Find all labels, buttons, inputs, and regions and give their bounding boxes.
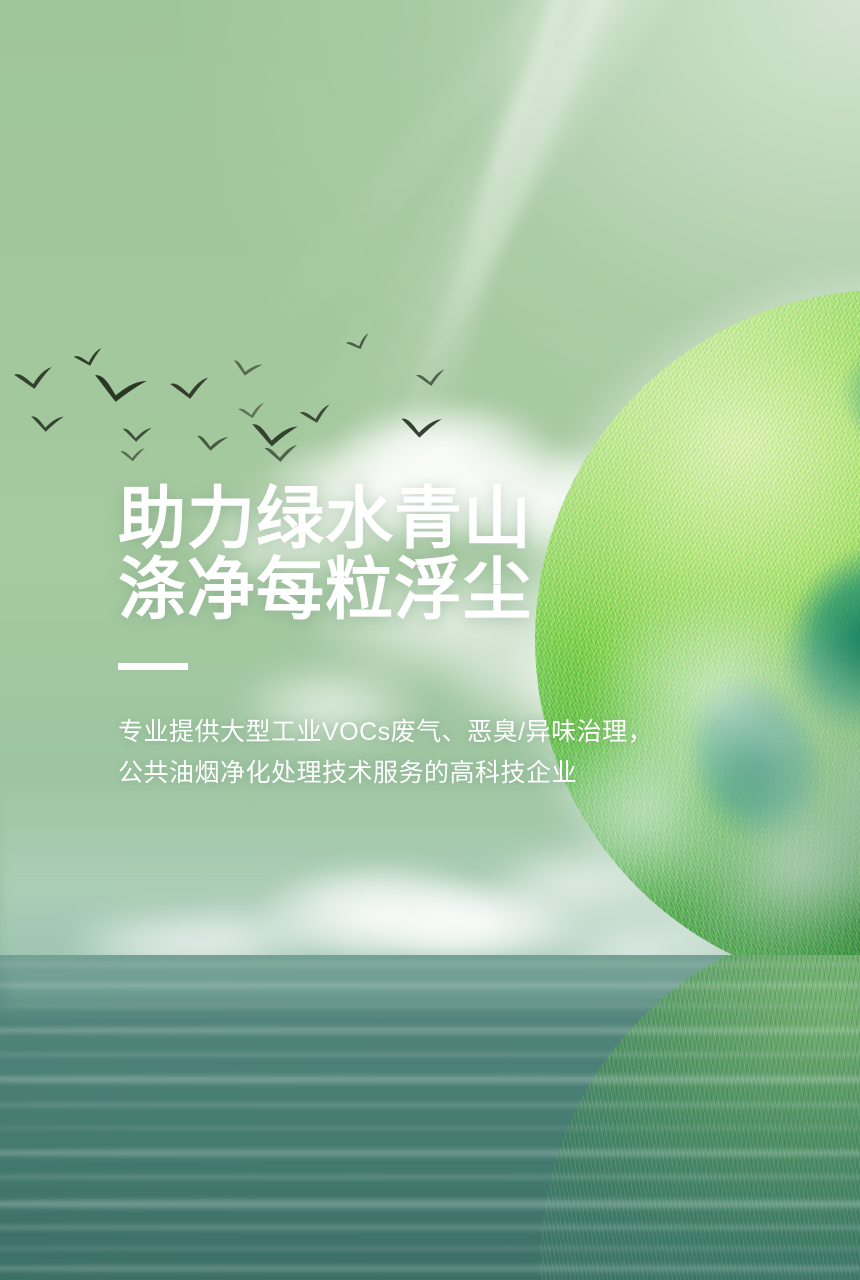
water-ripple-13 [0, 1245, 860, 1252]
bird-icon-8 [195, 432, 229, 453]
copy-block: 助力绿水青山 涤净每粒浮尘 专业提供大型工业VOCs废气、恶臭/异味治理， 公共… [118, 484, 678, 818]
bird-icon-15 [399, 415, 443, 441]
bird-icon-16 [415, 368, 447, 389]
subtitle-line-1: 专业提供大型工业VOCs废气、恶臭/异味治理， [118, 712, 678, 753]
water-ripple-10 [0, 1173, 860, 1181]
water-ripple-11 [0, 1197, 860, 1211]
headline-line-2: 涤净每粒浮尘 [118, 555, 678, 626]
water-ripple-14 [0, 1263, 860, 1274]
subtitle-line-2: 公共油烟净化处理技术服务的高科技企业 [118, 753, 678, 794]
birds-icon-flock [0, 330, 470, 470]
water-ripple-3 [0, 1003, 860, 1009]
headline-line-1: 助力绿水青山 [118, 484, 678, 555]
water-ripple-1 [0, 961, 860, 968]
bird-icon-2 [29, 413, 64, 434]
bird-icon-3 [72, 347, 105, 371]
bird-icon-14 [344, 332, 373, 354]
bird-icon-12 [264, 443, 299, 463]
water-ripple-4 [0, 1025, 860, 1036]
bird-icon-5 [169, 376, 211, 402]
subtitle: 专业提供大型工业VOCs废气、恶臭/异味治理， 公共油烟净化处理技术服务的高科技… [118, 712, 678, 793]
water-ripple-9 [0, 1147, 860, 1159]
page-title: 助力绿水青山 涤净每粒浮尘 [118, 484, 678, 625]
bird-icon-1 [13, 365, 56, 392]
title-divider [118, 663, 188, 670]
bird-icon-13 [298, 403, 333, 427]
bird-icon-9 [231, 357, 264, 380]
water-surface [0, 955, 860, 1280]
water-ripple-6 [0, 1073, 860, 1086]
bird-icon-4 [90, 370, 148, 409]
water-ripple-7 [0, 1101, 860, 1109]
promo-banner: 助力绿水青山 涤净每粒浮尘 专业提供大型工业VOCs废气、恶臭/异味治理， 公共… [0, 0, 860, 1280]
water-ripple-8 [0, 1125, 860, 1131]
water-ripple-12 [0, 1223, 860, 1232]
bird-icon-7 [120, 447, 147, 463]
water-ripples-icon [0, 955, 860, 1280]
bird-icon-10 [237, 402, 267, 422]
bird-icon-6 [122, 425, 153, 443]
water-ripple-2 [0, 981, 860, 990]
water-ripple-5 [0, 1051, 860, 1058]
